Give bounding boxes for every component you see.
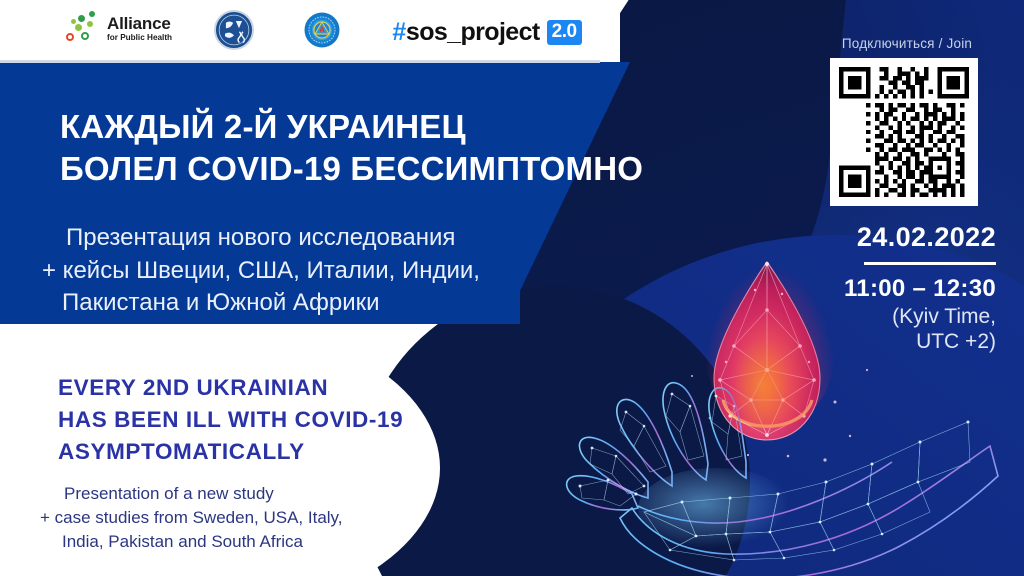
- logo-institute-2[interactable]: A: [304, 12, 340, 48]
- institute-emblem-1-icon: [214, 10, 254, 50]
- alliance-tagline: for Public Health: [107, 34, 172, 42]
- join-label: Подключиться / Join: [790, 36, 1024, 51]
- english-headline-line-1: EVERY 2ND UKRAINIAN: [58, 372, 528, 404]
- poster-root: Alliance for Public Health: [0, 0, 1024, 576]
- alliance-dots-icon: [66, 11, 100, 47]
- event-schedule: 24.02.2022 11:00 – 12:30 (Kyiv Time, UTC…: [790, 222, 1024, 355]
- logo-row: Alliance for Public Health: [0, 0, 620, 60]
- russian-subtitle-line-3: Пакистана и Южной Африки: [42, 287, 562, 320]
- logo-alliance-for-public-health[interactable]: Alliance for Public Health: [66, 11, 172, 47]
- event-timezone: (Kyiv Time, UTC +2): [790, 305, 996, 355]
- english-subtitle-line-2: + case studies from Sweden, USA, Italy,: [40, 506, 460, 530]
- event-timezone-line-2: UTC +2): [790, 330, 996, 355]
- svg-text:A: A: [319, 26, 325, 35]
- sos-project-wordmark: sos_project: [406, 18, 540, 47]
- logo-sos-project[interactable]: # sos_project 2.0: [392, 18, 582, 47]
- alliance-wordmark: Alliance for Public Health: [107, 15, 172, 42]
- qr-code[interactable]: [830, 58, 978, 206]
- event-time: 11:00 – 12:30: [790, 275, 996, 303]
- russian-subtitle-line-1: Презентация нового исследования: [42, 222, 562, 255]
- english-headline-line-2: HAS BEEN ILL WITH COVID-19: [58, 404, 528, 436]
- event-timezone-line-1: (Kyiv Time,: [790, 305, 996, 330]
- english-subtitle: Presentation of a new study + case studi…: [40, 482, 460, 554]
- alliance-name: Alliance: [107, 15, 172, 32]
- english-headline: EVERY 2ND UKRAINIAN HAS BEEN ILL WITH CO…: [58, 372, 528, 468]
- english-subtitle-line-1: Presentation of a new study: [40, 482, 460, 506]
- institute-emblem-2-icon: A: [304, 12, 340, 48]
- header-divider: [0, 60, 600, 63]
- russian-subtitle-line-2: + кейсы Швеции, США, Италии, Индии,: [42, 255, 562, 288]
- event-date: 24.02.2022: [790, 222, 996, 253]
- english-headline-line-3: ASYMPTOMATICALLY: [58, 436, 528, 468]
- logo-institute-1[interactable]: [214, 10, 254, 50]
- join-and-schedule-column: Подключиться / Join: [790, 0, 1024, 576]
- russian-headline-line-1: КАЖДЫЙ 2-Й УКРАИНЕЦ: [60, 106, 680, 148]
- english-subtitle-line-3: India, Pakistan and South Africa: [40, 530, 460, 554]
- hashtag-icon: #: [392, 18, 404, 47]
- russian-headline: КАЖДЫЙ 2-Й УКРАИНЕЦ БОЛЕЛ COVID-19 БЕССИ…: [60, 106, 680, 190]
- schedule-divider: [864, 262, 996, 265]
- russian-subtitle: Презентация нового исследования + кейсы …: [42, 222, 562, 320]
- sos-version-badge: 2.0: [547, 20, 582, 45]
- russian-headline-line-2: БОЛЕЛ COVID-19 БЕССИМПТОМНО: [60, 148, 680, 190]
